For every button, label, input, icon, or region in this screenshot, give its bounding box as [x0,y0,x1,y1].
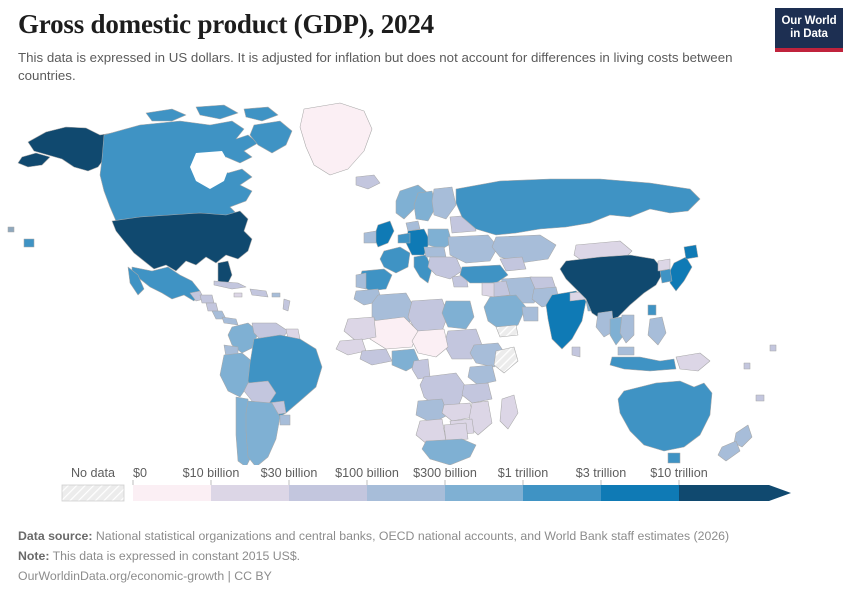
country-pacific-small[interactable] [8,227,14,232]
page-subtitle: This data is expressed in US dollars. It… [18,49,758,85]
note-label: Note: [18,549,49,563]
country-cuba[interactable] [214,281,246,289]
legend-bin-3[interactable] [367,485,445,501]
note-line: Note: This data is expressed in constant… [18,547,818,567]
note-text: This data is expressed in constant 2015 … [53,549,300,563]
country-botswana[interactable] [444,423,468,441]
country-russia[interactable] [456,179,700,235]
owid-gdp-map-page: Gross domestic product (GDP), 2024 This … [0,0,850,600]
country-saudi-arabia[interactable] [484,295,526,331]
country-somalia[interactable] [494,347,518,373]
country-yemen[interactable] [496,325,518,337]
country-papua-new-guinea[interactable] [676,353,710,371]
country-argentina[interactable] [246,401,280,465]
chart-header: Gross domestic product (GDP), 2024 This … [18,10,763,84]
country-vietnam[interactable] [620,315,634,343]
attribution-link[interactable]: OurWorldinData.org/economic-growth | CC … [18,569,272,583]
country-honduras[interactable] [200,295,214,303]
owid-logo-line2: in Data [790,28,828,41]
country-austria-cz[interactable] [424,247,446,257]
country-tanzania[interactable] [462,383,492,403]
legend-no-data-swatch[interactable] [62,485,124,501]
country-south-africa[interactable] [422,439,476,465]
legend-tick-label-3: $100 billion [335,468,399,480]
legend-tick-label-4: $300 billion [413,468,477,480]
country-taiwan[interactable] [648,305,656,315]
country-puerto-rico[interactable] [272,293,280,297]
legend-ticks [133,480,679,485]
legend-tick-label-2: $30 billion [261,468,318,480]
legend-bin-5[interactable] [523,485,601,501]
data-source-text: National statistical organizations and c… [96,529,729,543]
country-turkey[interactable] [460,265,508,283]
country-fiji[interactable] [756,395,764,401]
legend-bin-4[interactable] [445,485,523,501]
country-nicaragua[interactable] [206,303,218,311]
country-sri-lanka[interactable] [572,347,580,357]
legend-tick-label-5: $1 trillion [498,468,548,480]
country-syria-levant[interactable] [482,283,494,297]
country-australia[interactable] [618,381,712,451]
country-japan-north[interactable] [684,245,698,259]
country-panama[interactable] [222,317,238,325]
country-benelux[interactable] [398,233,410,243]
country-ireland[interactable] [364,231,376,243]
legend-tick-label-1: $10 billion [183,468,240,480]
country-pacific-island-1[interactable] [744,363,750,369]
legend-tick-label-6: $3 trillion [576,468,626,480]
country-finland[interactable] [432,187,456,219]
legend-tick-label-0: $0 [133,468,147,480]
country-mexico[interactable] [132,267,200,301]
legend-arrow-icon [769,485,791,501]
legend-color-bins[interactable] [133,485,791,501]
data-source-label: Data source: [18,529,93,543]
attribution-line: OurWorldinData.org/economic-growth | CC … [18,567,818,587]
country-uae-oman[interactable] [522,307,538,321]
legend-no-data-label: No data [71,468,115,480]
country-japan[interactable] [670,257,692,291]
country-baffin[interactable] [250,121,292,153]
legend-tick-label-7: $10 trillion [650,468,707,480]
country-kenya[interactable] [468,365,496,385]
country-canada-arctic[interactable] [146,109,186,121]
country-mauritania[interactable] [344,317,376,341]
country-north-korea[interactable] [658,259,670,271]
legend-bin-7[interactable] [679,485,769,501]
country-uzbekistan[interactable] [500,257,526,271]
country-iceland[interactable] [356,175,380,189]
country-egypt[interactable] [442,301,474,329]
country-alaska-islands[interactable] [18,153,50,167]
country-libya[interactable] [408,299,448,331]
country-ghana-ivory[interactable] [360,349,392,365]
country-united-states[interactable] [112,211,252,271]
country-hawaii[interactable] [24,239,34,247]
map-legend: No data $0 $10 billion $30 billion $100 … [0,468,850,516]
country-canada-arctic2[interactable] [196,105,238,119]
country-madagascar[interactable] [500,395,518,429]
owid-logo[interactable]: Our World in Data [775,8,843,52]
country-malaysia[interactable] [618,347,634,355]
country-canada-arctic3[interactable] [244,107,278,121]
country-jamaica[interactable] [234,293,242,297]
legend-bin-2[interactable] [289,485,367,501]
country-south-korea[interactable] [660,269,672,283]
owid-logo-line1: Our World [781,15,836,28]
country-greenland[interactable] [300,103,372,175]
country-cameroon[interactable] [412,359,430,379]
country-hispaniola[interactable] [250,289,268,297]
chart-footer: Data source: National statistical organi… [18,527,818,587]
country-philippines[interactable] [648,317,666,345]
country-united-kingdom[interactable] [374,221,394,247]
country-tasmania[interactable] [668,453,680,463]
page-title: Gross domestic product (GDP), 2024 [18,10,763,40]
country-uruguay[interactable] [280,415,290,425]
legend-bin-0[interactable] [133,485,211,501]
data-source-line: Data source: National statistical organi… [18,527,818,547]
legend-bin-6[interactable] [601,485,679,501]
legend-bin-1[interactable] [211,485,289,501]
country-lesser-antilles[interactable] [283,299,290,311]
country-chad[interactable] [412,329,448,357]
country-portugal[interactable] [356,273,366,289]
world-choropleth-map[interactable] [0,95,850,465]
country-indonesia[interactable] [610,357,676,371]
country-balkans[interactable] [428,257,462,279]
country-pacific-island-2[interactable] [770,345,776,351]
country-new-zealand-south[interactable] [718,441,740,461]
